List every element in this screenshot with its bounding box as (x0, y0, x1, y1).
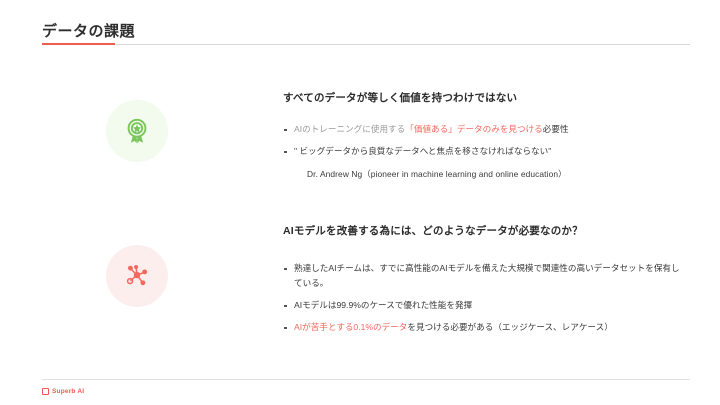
list-item: " ビッグデータから良質なデータへと焦点を移さなければならない" (283, 144, 683, 159)
list-item: AIが苦手とする0.1%のデータを見つける必要がある（エッジケース、レアケース） (283, 320, 683, 335)
network-nodes-icon (106, 245, 168, 307)
bullet-lead-text: " ビッグデータから良質なデータへと焦点を移さなければならない" (294, 146, 551, 156)
list-item: AIのトレーニングに使用する「価値ある」データのみを見つける必要性 (283, 122, 683, 137)
section-1-bullet-list: AIのトレーニングに使用する「価値ある」データのみを見つける必要性 " ビッグデ… (283, 122, 683, 159)
section-heading: AIモデルを改善する為には、どのようなデータが必要なのか？ (283, 225, 683, 239)
bullet-accent-text: AIが苦手とする0.1%のデータ (294, 322, 407, 332)
section-2-bullet-list: 熟達したAIチームは、すでに高性能のAIモデルを備えた大規模で関連性の高いデータ… (283, 261, 683, 335)
section-heading: すべてのデータが等しく価値を持つわけではない (283, 92, 683, 106)
header-divider (42, 44, 690, 45)
section-2-body: AIモデルを改善する為には、どのようなデータが必要なのか？ 熟達したAIチームは… (283, 225, 683, 342)
bullet-accent-text: 「価値ある」データのみを見つける (405, 124, 543, 134)
bullet-lead-text: AIのトレーニングに使用する (294, 124, 405, 134)
page-title: データの課題 (42, 20, 135, 41)
list-item: AIモデルは99.9%のケースで優れた性能を発揮 (283, 298, 683, 313)
bullet-tail-text: を見つける必要がある（エッジケース、レアケース） (407, 322, 612, 332)
superb-ai-logo-mark (42, 388, 49, 395)
bullet-lead-text: 熟達したAIチームは、すでに高性能のAIモデルを備えた大規模で関連性の高いデータ… (294, 263, 680, 288)
bullet-lead-text: AIモデルは99.9%のケースで優れた性能を発揮 (294, 300, 472, 310)
footer-logo: Superb AI (42, 388, 84, 395)
quote-attribution: Dr. Andrew Ng（pioneer in machine learnin… (307, 168, 683, 181)
award-ribbon-icon (106, 100, 168, 162)
list-item: 熟達したAIチームは、すでに高性能のAIモデルを備えた大規模で関連性の高いデータ… (283, 261, 683, 291)
title-accent-underline (42, 43, 115, 45)
bullet-tail-text: 必要性 (543, 124, 569, 134)
section-1-body: すべてのデータが等しく価値を持つわけではない AIのトレーニングに使用する「価値… (283, 92, 683, 181)
footer-logo-text: Superb AI (52, 388, 84, 395)
footer-divider (42, 379, 690, 380)
slide-canvas: データの課題 すべてのデータが等しく価値を持つわけではない AIのトレーニングに… (0, 0, 720, 405)
